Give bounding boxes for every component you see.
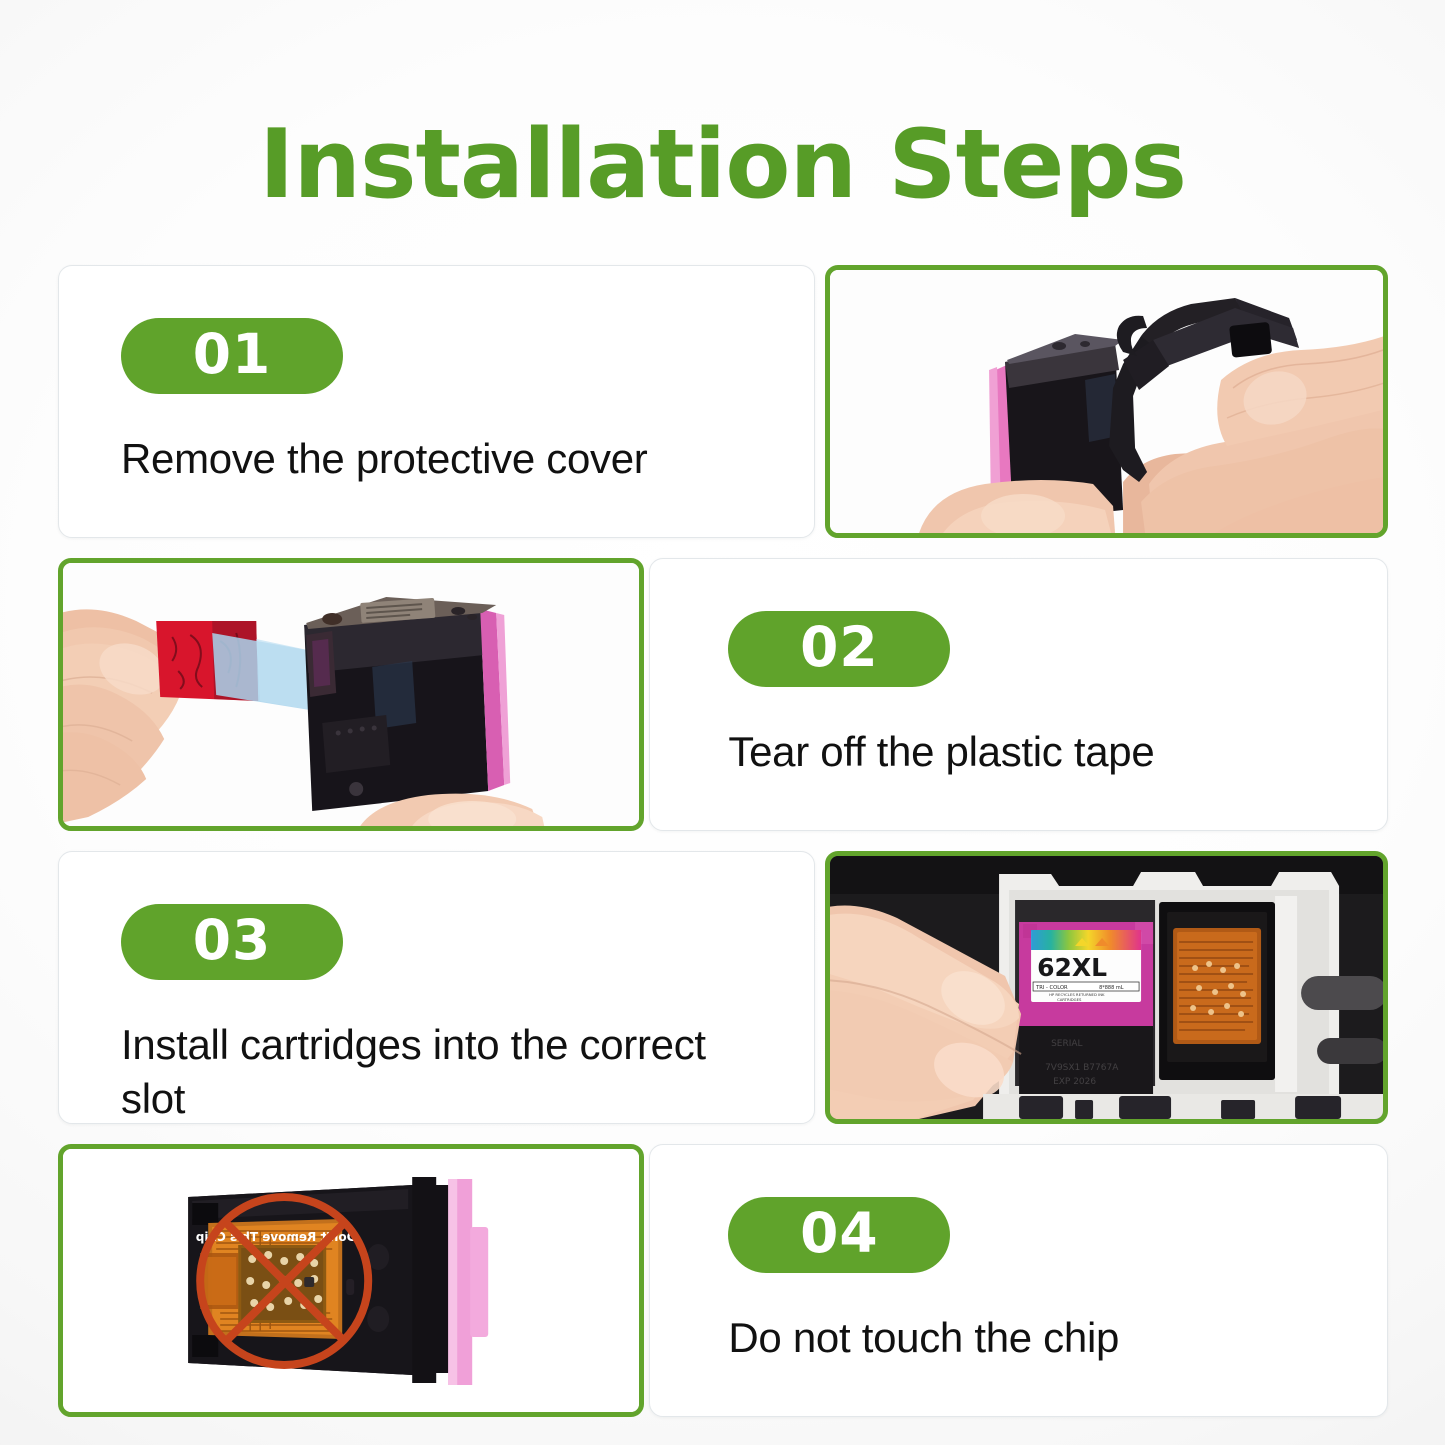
cartridge-color-label: TRI - COLOR xyxy=(1035,985,1068,991)
step-badge-03: 03 xyxy=(121,904,343,980)
step-description-01: Remove the protective cover xyxy=(121,432,761,486)
photo-do-not-touch-chip: Don't Remove This Chip xyxy=(58,1144,644,1417)
step-row-04: 04 Do not touch the chip xyxy=(58,1144,1388,1417)
svg-text:7V9SX1 B7767A: 7V9SX1 B7767A xyxy=(1045,1063,1119,1073)
photo-illustration-01 xyxy=(830,270,1383,533)
photo-tear-off-plastic-tape xyxy=(58,558,644,831)
step-row-03: 03 Install cartridges into the correct s… xyxy=(58,851,1388,1124)
step-card-02: 02 Tear off the plastic tape xyxy=(649,558,1388,831)
photo-illustration-02 xyxy=(63,563,639,826)
photo-remove-protective-cover xyxy=(825,265,1388,538)
photo-install-cartridge-into-slot: 62XL TRI - COLOR 8*888 mL HP RECYCLES RE… xyxy=(825,851,1388,1124)
cartridge-model-label: 62XL xyxy=(1037,953,1107,982)
step-card-04: 04 Do not touch the chip xyxy=(649,1144,1388,1417)
svg-text:8*888 mL: 8*888 mL xyxy=(1099,985,1124,991)
page-title: Installation Steps xyxy=(0,118,1445,213)
step-row-02: 02 Tear off the plastic tape xyxy=(58,558,1388,831)
step-badge-01: 01 xyxy=(121,318,343,394)
svg-text:SERIAL: SERIAL xyxy=(1051,1039,1082,1049)
step-row-01: 01 Remove the protective cover xyxy=(58,265,1388,538)
step-card-01: 01 Remove the protective cover xyxy=(58,265,815,538)
photo-illustration-04: Don't Remove This Chip xyxy=(63,1149,639,1412)
installation-steps-list: 01 Remove the protective cover xyxy=(58,265,1388,1437)
step-description-02: Tear off the plastic tape xyxy=(728,725,1368,779)
step-card-03: 03 Install cartridges into the correct s… xyxy=(58,851,815,1124)
step-description-04: Do not touch the chip xyxy=(728,1311,1368,1365)
step-description-03: Install cartridges into the correct slot xyxy=(121,1018,761,1126)
svg-text:CARTRIDGES: CARTRIDGES xyxy=(1057,997,1082,1002)
svg-text:EXP 2026: EXP 2026 xyxy=(1053,1077,1096,1087)
step-badge-02: 02 xyxy=(728,611,950,687)
step-badge-04: 04 xyxy=(728,1197,950,1273)
photo-illustration-03: 62XL TRI - COLOR 8*888 mL HP RECYCLES RE… xyxy=(830,856,1383,1119)
